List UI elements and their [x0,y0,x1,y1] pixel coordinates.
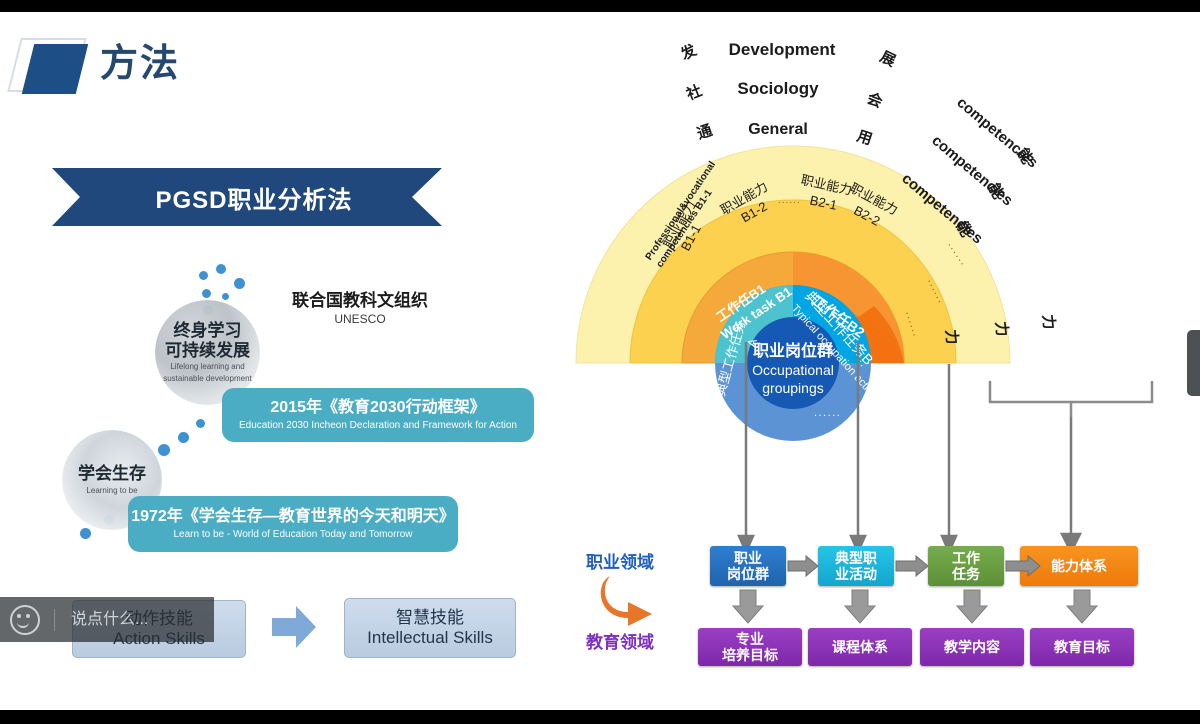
ring-zh-sociology-left: 社 [683,81,705,104]
section-ribbon: PGSD职业分析法 [52,168,442,226]
skill-box-intellectual: 智慧技能 Intellectual Skills [344,598,516,658]
decor-dot [158,444,170,456]
seg-ellipsis-inner: ...... [778,195,801,206]
node-line1: 教学内容 [944,639,1000,655]
node-line2: 任务 [952,566,980,582]
ring-zh-li-development: 力 [1039,314,1058,331]
flow-node-work-tasks[interactable]: 工作 任务 [928,546,1004,586]
circle-zh-line2: 可持续发展 [165,341,250,361]
circle-en-line1: Learning to be [86,486,137,496]
right-arrow-icon [272,606,316,648]
flow-node-training-objectives[interactable]: 专业 培养目标 [698,628,802,666]
center-zh: 职业岗位群 [753,341,833,360]
ring-zh-development-right: 展 [877,48,898,70]
curved-arrow-icon [598,572,660,626]
slide-canvas: 方法 PGSD职业分析法 终身学习 可持续发展 Lifelong learnin… [0,0,1200,724]
video-comment-bar[interactable] [0,597,214,642]
flow-node-education-objectives[interactable]: 教育目标 [1030,628,1134,666]
callout-zh: 1972年《学会生存—教育世界的今天和明天》 [131,508,455,526]
ring-zh-general-right: 用 [855,128,875,149]
letterbox-top [0,0,1200,12]
circle-en-line2: sustainable development [163,374,252,384]
node-line1: 典型职 [835,550,877,566]
brace-bracket [990,382,1152,416]
flow-node-occupational-groupings[interactable]: 职业 岗位群 [710,546,786,586]
ring-zh-li-sociology: 力 [992,321,1011,338]
smiley-icon[interactable] [10,605,40,635]
process-flow-chart: 职业领域 教育领域 职业 岗位群 典型职 业活动 工作 任务 能力体系 [580,540,1200,670]
decor-dot [216,264,226,274]
node-line1: 职业 [727,550,769,566]
ring-label-sociology-en: Sociology [737,79,819,98]
flow-node-curriculum-system[interactable]: 课程体系 [808,628,912,666]
node-line1: 教育目标 [1054,639,1110,655]
page-title: 方法 [100,32,180,87]
circle-zh-line1: 学会生存 [78,464,146,484]
svg-text:......: ...... [814,407,841,419]
callout-2015: 2015年《教育2030行动框架》 Education 2030 Incheon… [222,388,534,442]
decor-dot [234,278,245,289]
ribbon-label: PGSD职业分析法 [141,180,352,215]
decor-dot [178,432,189,443]
letterbox-bottom [0,710,1200,724]
callout-en: Learn to be - World of Education Today a… [173,529,412,540]
node-line2: 培养目标 [722,647,778,663]
divider [54,609,55,631]
callout-1972: 1972年《学会生存—教育世界的今天和明天》 Learn to be - Wor… [128,496,458,552]
flow-node-competency-system[interactable]: 能力体系 [1020,546,1138,586]
parallelogram-logo-icon [22,44,88,94]
ring-label-general-en: General [748,121,808,138]
flow-node-teaching-content[interactable]: 教学内容 [920,628,1024,666]
ring-zh-sociology-right: 会 [865,89,886,111]
center-en-line1: Occupational [752,362,834,378]
flow-row-label-education: 教育领域 [586,628,654,653]
flow-row-label-vocational: 职业领域 [586,548,654,573]
ring-zh-li-general: 力 [942,329,961,346]
center-en-line2: groupings [762,380,824,396]
decor-dot [202,289,211,298]
node-line1: 工作 [952,550,980,566]
callout-en: Education 2030 Incheon Declaration and F… [239,420,517,431]
decor-dot [222,293,229,300]
ring-zh-general-left: 通 [695,122,715,143]
node-line1: 专业 [722,631,778,647]
decor-dot [196,419,205,428]
skill-zh: 智慧技能 [396,608,464,628]
node-line2: 岗位群 [727,566,769,582]
unesco-en: UNESCO [270,312,450,326]
ring-zh-development-left: 发 [677,40,700,64]
flow-node-typical-activities[interactable]: 典型职 业活动 [818,546,894,586]
decor-dot [80,528,91,539]
unesco-label: 联合国教科文组织 UNESCO [270,286,450,326]
unesco-zh: 联合国教科文组织 [270,286,450,311]
callout-zh: 2015年《教育2030行动框架》 [270,399,485,417]
node-line2: 业活动 [835,566,877,582]
comment-input[interactable] [69,610,193,630]
node-line1: 课程体系 [832,639,888,655]
ring-label-development-en: Development [729,40,836,59]
circle-zh-line1: 终身学习 [174,321,242,341]
decor-dot [199,271,208,280]
panel-toggle-handle[interactable] [1187,330,1200,396]
circle-en-line1: Lifelong learning and [170,362,244,372]
node-line1: 能力体系 [1051,558,1107,574]
skill-en: Intellectual Skills [367,628,493,648]
